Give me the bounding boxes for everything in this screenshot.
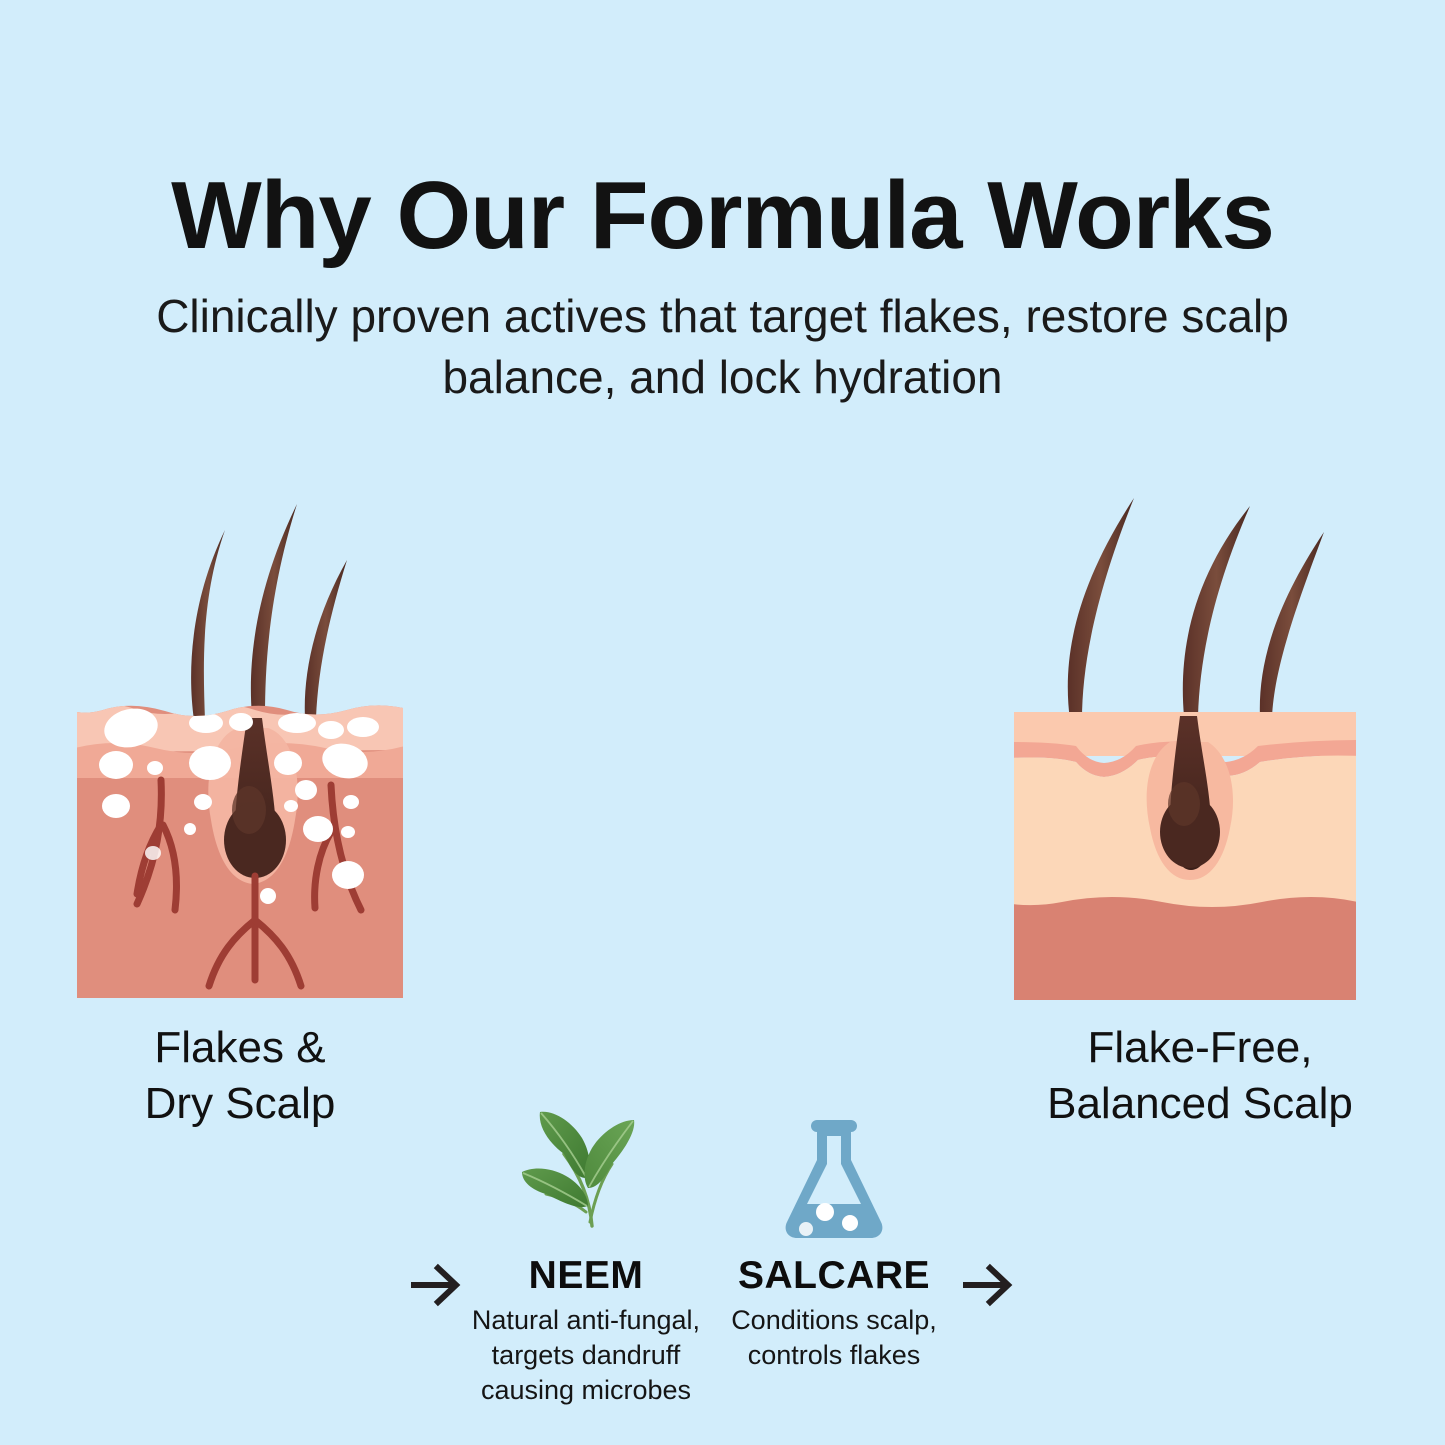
hair-strands	[1068, 498, 1324, 720]
ingredient-salcare: SALCARE Conditions scalp, controls flake…	[712, 1102, 956, 1373]
ingredient-neem: NEEM Natural anti-fungal, targets dandru…	[458, 1090, 714, 1408]
comparison-row: NEEM Natural anti-fungal, targets dandru…	[0, 480, 1445, 1040]
header: Why Our Formula Works Clinically proven …	[0, 168, 1445, 407]
after-scalp-illustration	[1012, 480, 1342, 1010]
before-caption: Flakes & Dry Scalp	[75, 1020, 405, 1133]
ingredient-name: NEEM	[458, 1256, 714, 1297]
arrow-salcare-to-after	[960, 1255, 1020, 1315]
infographic-canvas: Why Our Formula Works Clinically proven …	[0, 0, 1445, 1445]
ingredient-description: Conditions scalp, controls flakes	[712, 1303, 956, 1373]
after-caption: Flake-Free, Balanced Scalp	[1000, 1020, 1400, 1133]
neem-leaf-icon	[458, 1090, 714, 1240]
page-title: Why Our Formula Works	[0, 168, 1445, 264]
hair-strands	[191, 504, 347, 720]
flask-icon	[712, 1102, 956, 1240]
page-subtitle: Clinically proven actives that target fl…	[93, 286, 1353, 407]
before-scalp-illustration	[75, 480, 405, 1010]
ingredient-name: SALCARE	[712, 1256, 956, 1297]
ingredient-description: Natural anti-fungal, targets dandruff ca…	[458, 1303, 714, 1408]
